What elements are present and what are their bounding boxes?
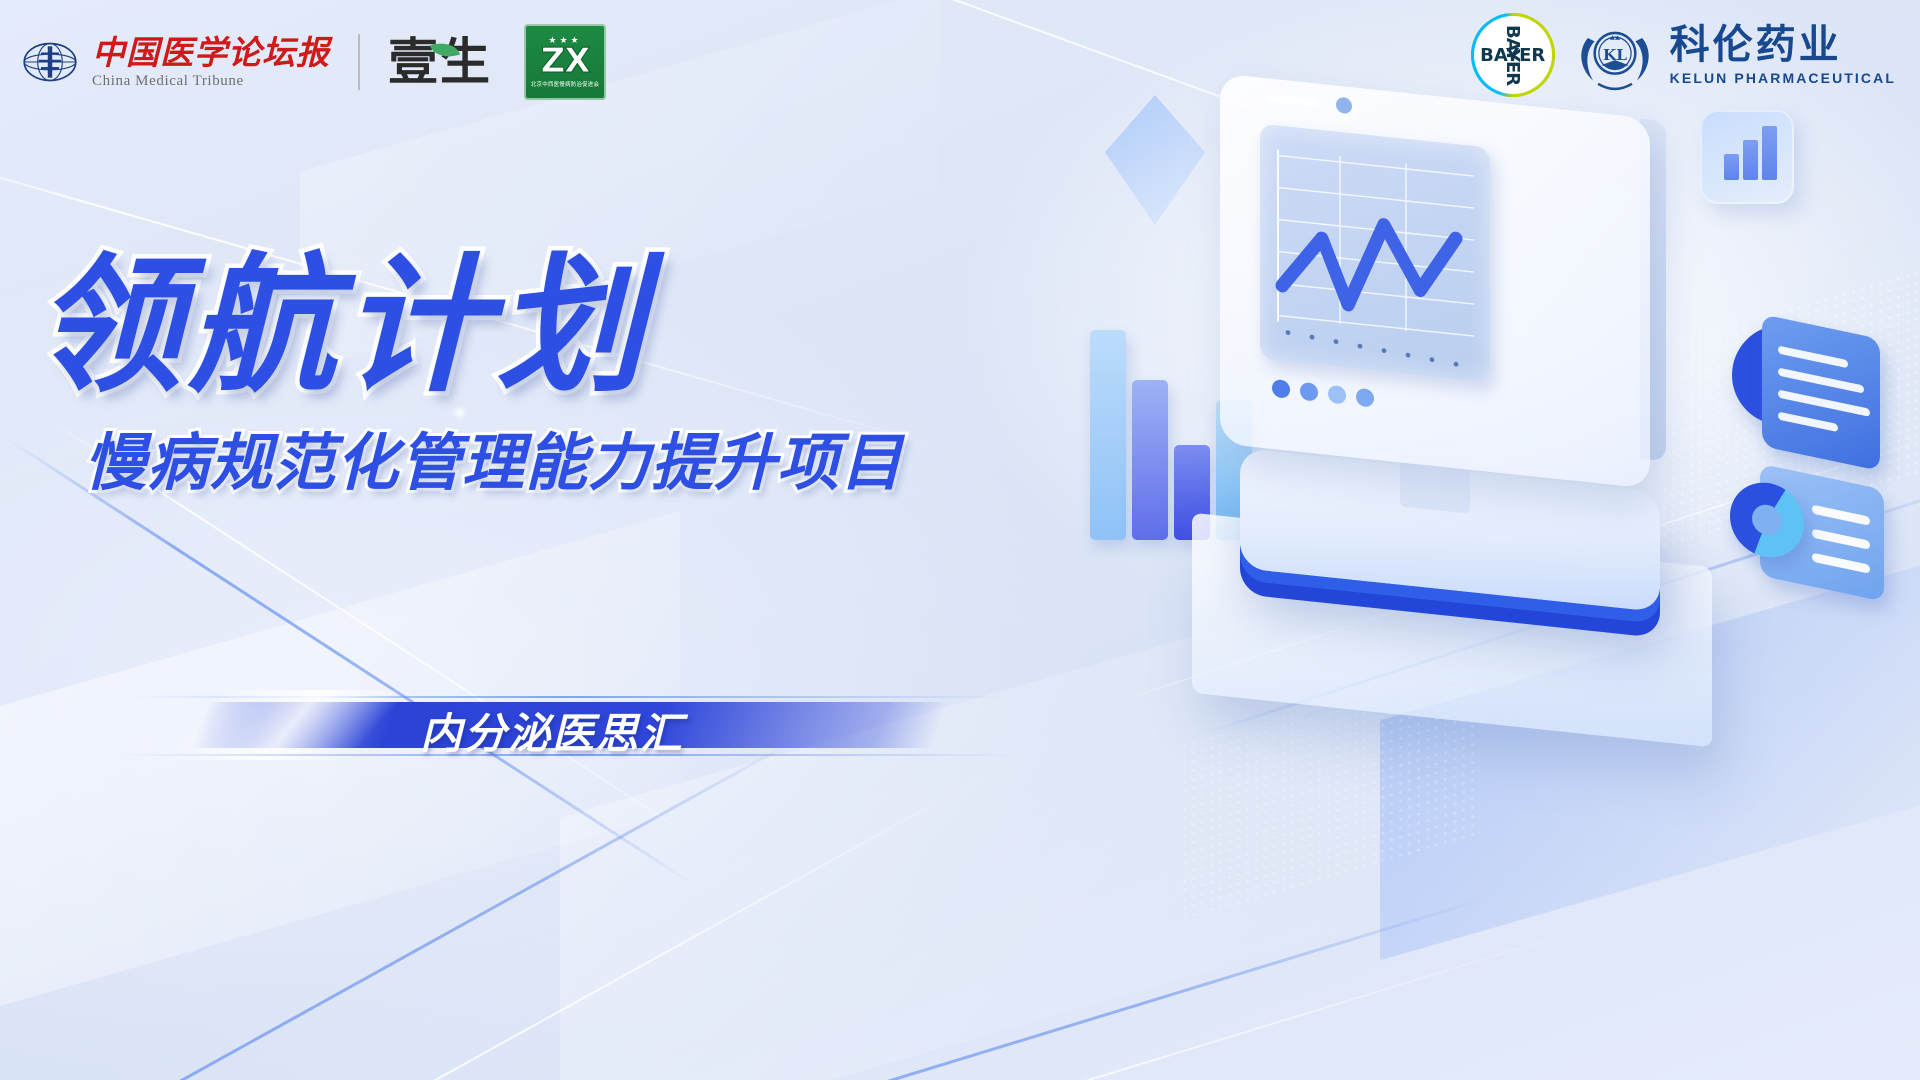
zx-mark: ZX <box>541 46 590 77</box>
cmt-name-cn: 中国医学论坛报 <box>92 36 330 69</box>
kelun-crest-icon: KL <box>1572 16 1658 94</box>
bar-chart-icon <box>1700 110 1794 204</box>
banner-stage: 中国医学论坛报 China Medical Tribune 壹生 ★★★ ZX … <box>0 0 1920 1080</box>
cmt-logo-text: 中国医学论坛报 China Medical Tribune <box>92 36 330 89</box>
text-card-line <box>1778 390 1870 417</box>
hero-illustration <box>940 0 1920 1080</box>
bayer-name-vertical: BAYER <box>1502 25 1523 85</box>
bar-chart-icon-bar <box>1743 140 1758 180</box>
bar-chart-icon-bar <box>1724 154 1739 180</box>
bayer-logo: BAYER BAYER <box>1474 16 1552 94</box>
pie-card-line <box>1812 505 1870 526</box>
logo-group-left: 中国医学论坛报 China Medical Tribune 壹生 ★★★ ZX … <box>22 24 606 100</box>
pie-card-line <box>1812 553 1870 574</box>
bar-chart-icon-bar <box>1762 126 1777 180</box>
bar-3d <box>1090 330 1126 540</box>
status-dot <box>1300 382 1318 402</box>
monitor-icon <box>1220 73 1650 488</box>
text-card-line <box>1778 412 1838 433</box>
text-card-line <box>1778 346 1848 369</box>
kelun-name-en: KELUN PHARMACEUTICAL <box>1670 71 1896 85</box>
page-title: 领航计划 <box>34 252 650 400</box>
kelun-logo: KL 科伦药业 KELUN PHARMACEUTICAL <box>1572 16 1896 94</box>
bar-3d <box>1132 380 1168 540</box>
diamond-icon <box>1105 95 1205 225</box>
status-dot <box>1328 385 1346 405</box>
kelun-name-cn: 科伦药业 <box>1670 25 1896 65</box>
status-dot <box>1272 379 1290 399</box>
globe-icon <box>22 34 78 90</box>
zx-badge: ★★★ ZX 北京中西医慢病防治促进会 <box>524 24 606 100</box>
status-dot <box>1356 388 1374 408</box>
logo-divider <box>358 34 360 90</box>
header-bar: 中国医学论坛报 China Medical Tribune 壹生 ★★★ ZX … <box>0 0 1920 110</box>
hero-copy: 领航计划 慢病规范化管理能力提升项目 内分泌医思汇 <box>0 0 1000 1080</box>
logo-group-right: BAYER BAYER KL 科伦药业 KELUN PHARMA <box>1474 16 1896 94</box>
cmt-name-en: China Medical Tribune <box>92 74 330 89</box>
yisheng-logo: 壹生 <box>388 37 492 87</box>
line-chart <box>1260 124 1490 383</box>
page-subtitle: 慢病规范化管理能力提升项目 <box>84 432 903 494</box>
ribbon-banner: 内分泌医思汇 <box>120 690 1020 760</box>
status-dots <box>1272 379 1374 408</box>
zx-caption: 北京中西医慢病防治促进会 <box>531 80 599 88</box>
bayer-cross-wordmark: BAYER BAYER <box>1474 16 1552 94</box>
screen-chart <box>1260 124 1490 383</box>
ribbon-label: 内分泌医思汇 <box>420 700 684 761</box>
text-card-line <box>1778 368 1864 394</box>
kelun-text: 科伦药业 KELUN PHARMACEUTICAL <box>1670 25 1896 85</box>
pie-card-line <box>1812 529 1870 550</box>
text-card-icon <box>1762 314 1880 471</box>
